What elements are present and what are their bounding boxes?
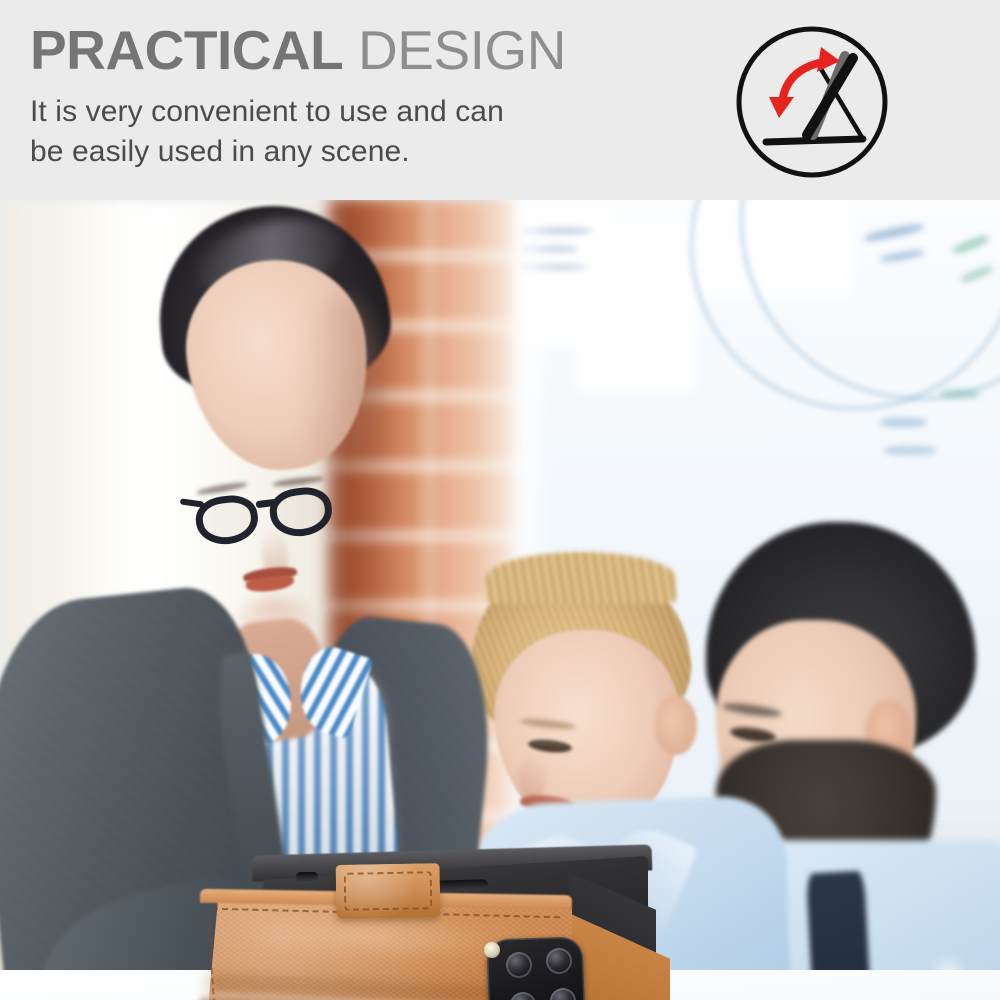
- camera-lens: [546, 948, 572, 974]
- camera-lens: [506, 952, 532, 978]
- phone-power-button[interactable]: [432, 879, 488, 892]
- title-light: DESIGN: [343, 19, 566, 81]
- subtitle: It is very convenient to use and can be …: [30, 92, 690, 172]
- phone-volume-button[interactable]: [296, 872, 318, 882]
- adjustable-kickstand-icon: [735, 25, 889, 179]
- header-text-block: PRACTICAL DESIGN It is very convenient t…: [30, 18, 690, 172]
- page-title: PRACTICAL DESIGN: [30, 18, 690, 82]
- product-feature-image: PRACTICAL DESIGN It is very convenient t…: [0, 0, 1000, 1000]
- leather-wallet-folio-case: [0, 200, 1000, 1000]
- header-band: PRACTICAL DESIGN It is very convenient t…: [0, 0, 1000, 200]
- subtitle-line-1: It is very convenient to use and can: [30, 92, 690, 132]
- case-tab-stitching: [344, 871, 433, 911]
- lifestyle-photo: [0, 200, 1000, 1000]
- subtitle-line-2: be easily used in any scene.: [30, 132, 690, 172]
- title-strong: PRACTICAL: [30, 19, 343, 81]
